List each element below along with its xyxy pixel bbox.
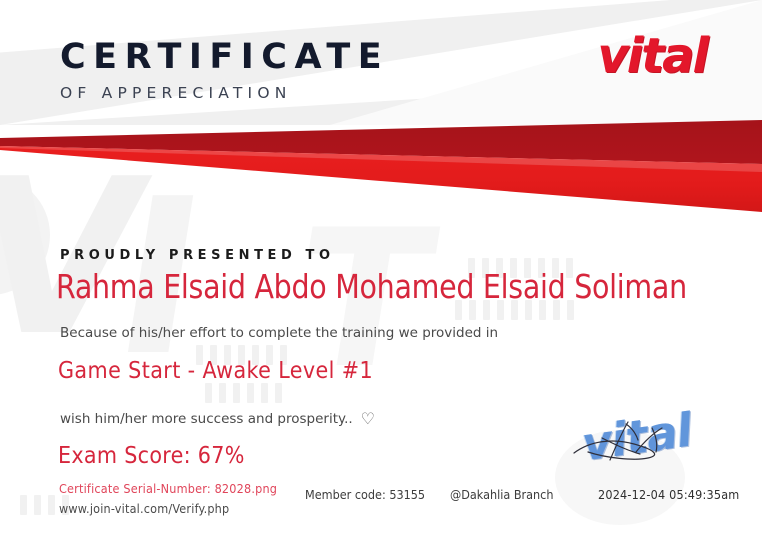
heart-icon: ♡ [361,411,375,427]
page-title: CERTIFICATE [60,40,389,75]
course-name: Game Start - Awake Level #1 [58,358,373,384]
recipient-name: Rahma Elsaid Abdo Mohamed Elsaid Soliman [56,267,687,306]
title-block: CERTIFICATE OF APPERECIATION [60,40,389,102]
vital-logo: vital [597,32,707,80]
branch-name: @Dakahlia Branch [450,487,554,502]
wishes-text: wish him/her more success and prosperity… [60,411,353,427]
page-subtitle: OF APPERECIATION [60,86,389,102]
verify-url[interactable]: www.join-vital.com/Verify.php [59,501,229,516]
presented-to-label: PROUDLY PRESENTED TO [60,248,335,263]
serial-number: Certificate Serial-Number: 82028.png [59,481,277,496]
exam-score: Exam Score: 67% [58,443,245,469]
watermark-keys [205,383,282,403]
red-diagonal-band [0,120,762,220]
certificate-document: V I T CERTIFICATE OF APPERECIATION vital [0,0,762,539]
issued-date: 2024-12-04 05:49:35am [598,487,739,502]
signature-icon [566,408,726,478]
member-code: Member code: 53155 [305,487,425,502]
wishes-line: wish him/her more success and prosperity… [60,411,375,427]
approval-stamp: vital [566,402,726,482]
reason-text: Because of his/her effort to complete th… [60,325,498,341]
